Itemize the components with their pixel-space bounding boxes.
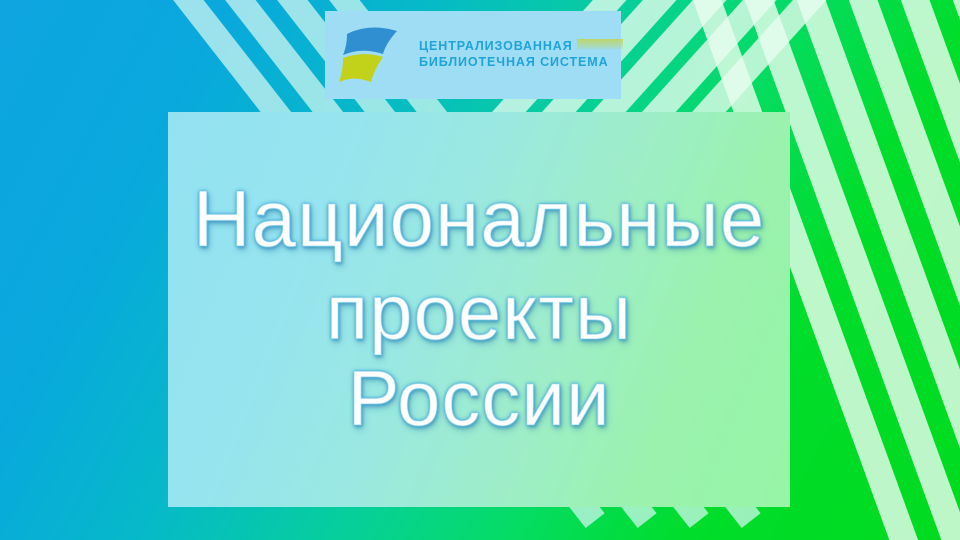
stripe — [828, 0, 960, 540]
stripe — [776, 0, 960, 540]
stripe — [880, 0, 960, 540]
library-logo-text: ЦЕНТРАЛИЗОВАННАЯ БИБЛИОТЕЧНАЯ СИСТЕМА — [419, 39, 623, 70]
logo-line-2: БИБЛИОТЕЧНАЯ СИСТЕМА — [419, 55, 623, 71]
logo-line-1: ЦЕНТРАЛИЗОВАННАЯ — [419, 39, 623, 55]
stripe — [0, 0, 26, 540]
title-panel: Национальные проекты России — [168, 112, 790, 507]
library-logo-plate: ЦЕНТРАЛИЗОВАННАЯ БИБЛИОТЕЧНАЯ СИСТЕМА — [325, 11, 621, 99]
title-line-2: проекты — [326, 273, 632, 353]
title-line-3: России — [347, 359, 610, 439]
title-line-1: Национальные — [193, 181, 765, 258]
logo-highlight-mark — [577, 39, 623, 49]
stripe — [932, 0, 960, 540]
presentation-slide: ЦЕНТРАЛИЗОВАННАЯ БИБЛИОТЕЧНАЯ СИСТЕМА На… — [0, 0, 960, 540]
open-book-icon — [337, 22, 411, 88]
